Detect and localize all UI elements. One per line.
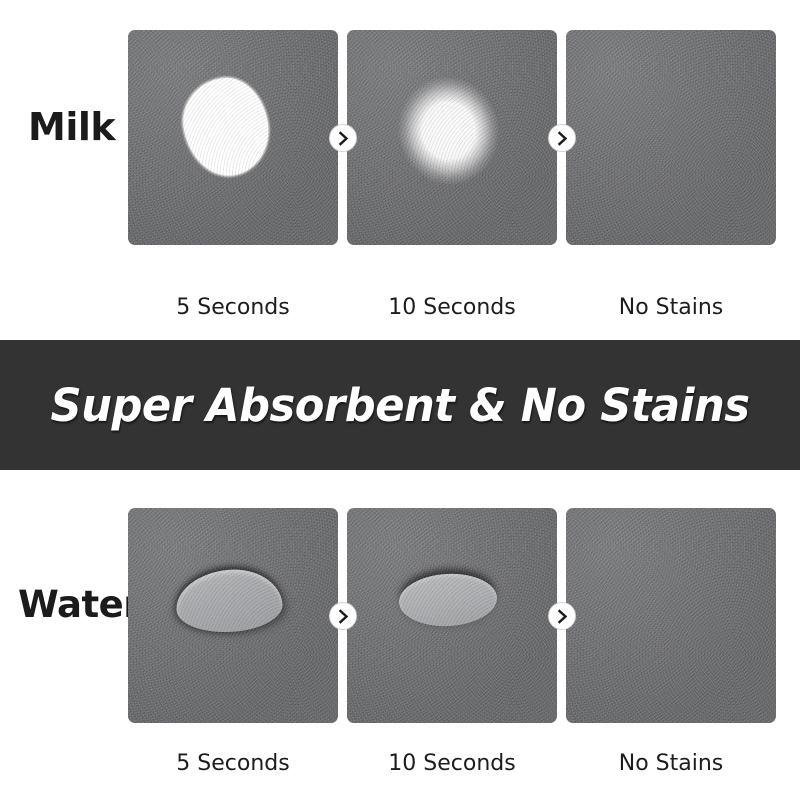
caption-milk-5s: 5 Seconds [128, 295, 338, 320]
swatch-panel-milk-5s [128, 30, 338, 245]
swatch-panel-water-10s [347, 508, 557, 723]
water-stain-bead [173, 565, 284, 636]
infographic-page: Milk 5 Seconds 10 Seconds No Stains Supe… [0, 0, 800, 800]
headline-banner: Super Absorbent & No Stains [0, 340, 800, 470]
caption-water-clean: No Stains [566, 751, 776, 776]
swatch-panel-milk-10s [347, 30, 557, 245]
chevron-right-icon [329, 602, 357, 630]
chevron-right-icon [548, 124, 576, 152]
chevron-right-icon [329, 124, 357, 152]
caption-milk-10s: 10 Seconds [347, 295, 557, 320]
swatch-panel-water-clean [566, 508, 776, 723]
caption-water-10s: 10 Seconds [347, 751, 557, 776]
milk-stain-fresh [177, 72, 275, 182]
chevron-right-icon [548, 602, 576, 630]
caption-milk-clean: No Stains [566, 295, 776, 320]
milk-stain-absorbing [381, 57, 522, 203]
swatch-panel-water-5s [128, 508, 338, 723]
row-label-milk: Milk [28, 108, 128, 146]
row-label-water: Water [18, 586, 118, 623]
swatch-panel-milk-clean [566, 30, 776, 245]
headline-text: Super Absorbent & No Stains [50, 379, 749, 432]
water-stain-absorbing [398, 571, 499, 628]
caption-water-5s: 5 Seconds [128, 751, 338, 776]
